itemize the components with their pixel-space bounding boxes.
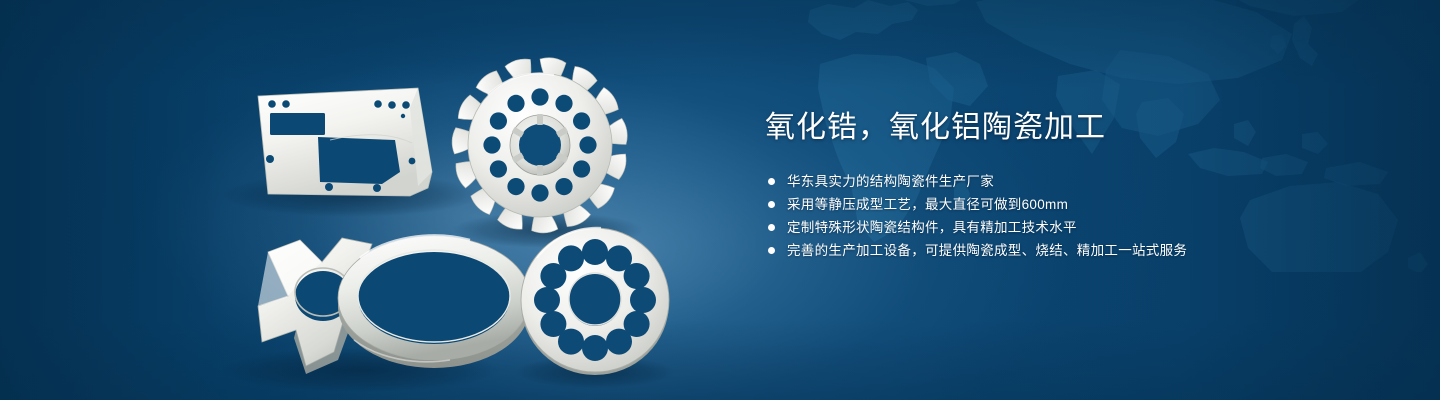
list-item: 完善的生产加工设备，可提供陶瓷成型、烧结、精加工一站式服务 xyxy=(765,239,1325,262)
list-item-label: 定制特殊形状陶瓷结构件，具有精加工技术水平 xyxy=(787,220,1077,235)
promo-banner: 氧化锆，氧化铝陶瓷加工 华东具实力的结构陶瓷件生产厂家 采用等静压成型工艺，最大… xyxy=(0,0,1440,400)
ceramic-ring xyxy=(338,235,530,368)
banner-title: 氧化锆，氧化铝陶瓷加工 xyxy=(765,108,1325,148)
feature-list: 华东具实力的结构陶瓷件生产厂家 采用等静压成型工艺，最大直径可做到600mm 定… xyxy=(765,170,1325,262)
banner-copy: 氧化锆，氧化铝陶瓷加工 华东具实力的结构陶瓷件生产厂家 采用等静压成型工艺，最大… xyxy=(765,108,1325,262)
ceramic-impeller xyxy=(450,55,631,236)
list-item-label: 采用等静压成型工艺，最大直径可做到600mm xyxy=(787,197,1068,212)
list-item: 华东具实力的结构陶瓷件生产厂家 xyxy=(765,170,1325,193)
list-item: 定制特殊形状陶瓷结构件，具有精加工技术水平 xyxy=(765,216,1325,239)
bullet-dot-icon xyxy=(768,247,775,254)
ceramic-perforated-disc xyxy=(521,228,669,375)
bullet-dot-icon xyxy=(768,178,775,185)
bullet-dot-icon xyxy=(768,201,775,208)
list-item-label: 华东具实力的结构陶瓷件生产厂家 xyxy=(787,174,994,189)
product-images xyxy=(0,0,740,400)
list-item: 采用等静压成型工艺，最大直径可做到600mm xyxy=(765,193,1325,216)
list-item-label: 完善的生产加工设备，可提供陶瓷成型、烧结、精加工一站式服务 xyxy=(787,243,1187,258)
ceramic-plate xyxy=(258,88,432,196)
bullet-dot-icon xyxy=(768,224,775,231)
